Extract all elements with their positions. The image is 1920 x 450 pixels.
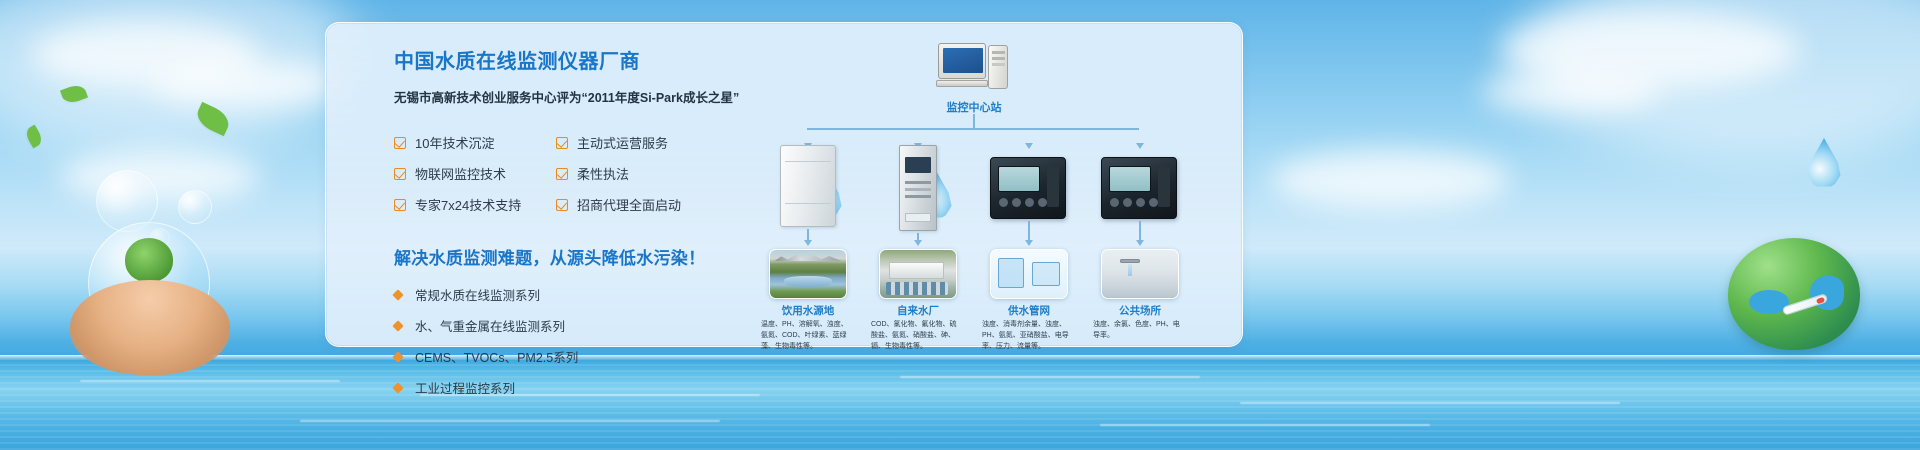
feature-item: 物联网监控技术 — [394, 164, 556, 183]
rack-label-plate — [905, 213, 931, 222]
feature-item: 招商代理全面启动 — [556, 195, 726, 214]
wave-line — [80, 380, 340, 382]
diamond-bullet-icon — [392, 320, 403, 331]
cloud-2 — [150, 60, 340, 108]
page-subtitle: 无锡市高新技术创业服务中心评为“2011年度Si-Park成长之星” — [394, 87, 734, 106]
monitor-icon — [938, 43, 986, 79]
feature-label: 物联网监控技术 — [415, 164, 506, 183]
rack-modules — [905, 181, 931, 184]
connector-stem — [973, 114, 975, 129]
device-panel-controller-1 — [990, 157, 1066, 219]
checkbox-icon — [556, 137, 568, 149]
scene-description: COD、氯化物、氟化物、硫酸盐、氨氮、硝酸盐、砷、镉、生物毒性等。 — [871, 320, 963, 353]
scene-description: 浊度、余氯、色度、PH、电导率。 — [1093, 320, 1185, 342]
scene-label: 供水管网 — [974, 303, 1084, 318]
section-heading: 解决水质监测难题，从源头降低水污染！ — [394, 244, 734, 269]
controller-body — [1101, 157, 1177, 219]
scene-card-image[interactable] — [990, 249, 1068, 299]
scene-card-image[interactable] — [879, 249, 957, 299]
controller-lcd — [998, 166, 1040, 192]
feature-checklist: 10年技术沉淀 主动式运营服务 物联网监控技术 柔性执法 专家7x24技术支持 … — [394, 133, 734, 214]
list-item: 水、气重金属在线监测系列 — [394, 316, 734, 335]
controller-keypad — [999, 198, 1047, 207]
list-item: CEMS、TVOCs、PM2.5系列 — [394, 347, 734, 366]
bubble-medium — [178, 190, 212, 224]
cloud-6 — [60, 150, 260, 204]
list-item-label: 工业过程监控系列 — [415, 378, 515, 397]
wave-line — [300, 420, 720, 422]
product-series-list: 常规水质在线监测系列 水、气重金属在线监测系列 CEMS、TVOCs、PM2.5… — [394, 285, 734, 397]
tap-water-photo — [1102, 250, 1178, 298]
rack-display — [905, 157, 931, 173]
cloud-4 — [1480, 70, 1660, 114]
controller-side-panel — [1158, 167, 1170, 207]
controller-lcd — [1109, 166, 1151, 192]
checkbox-icon — [556, 168, 568, 180]
feature-item: 10年技术沉淀 — [394, 133, 556, 152]
list-item-label: CEMS、TVOCs、PM2.5系列 — [415, 347, 578, 366]
monitor-screen — [943, 48, 983, 73]
scene-label: 饮用水源地 — [753, 303, 863, 318]
cabinet-body — [780, 145, 836, 227]
rack-body — [899, 145, 937, 231]
feature-label: 招商代理全面启动 — [577, 195, 681, 214]
list-item-label: 水、气重金属在线监测系列 — [415, 316, 565, 335]
device-panel-controller-2 — [1101, 157, 1177, 219]
wave-line — [900, 376, 1200, 378]
content-panel: 中国水质在线监测仪器厂商 无锡市高新技术创业服务中心评为“2011年度Si-Pa… — [325, 22, 1243, 347]
feature-label: 主动式运营服务 — [577, 133, 668, 152]
system-topology-diagram: 监控中心站 — [751, 31, 1221, 351]
connector-bus — [807, 128, 1139, 130]
feature-label: 柔性执法 — [577, 164, 629, 183]
feature-label: 专家7x24技术支持 — [415, 195, 521, 214]
wave-line — [1240, 402, 1620, 404]
diamond-bullet-icon — [392, 289, 403, 300]
green-earth-illustration — [1728, 238, 1860, 350]
scene-label: 公共场所 — [1085, 303, 1195, 318]
device-rack-analyzer — [899, 145, 937, 231]
diamond-bullet-icon — [392, 351, 403, 362]
pipe-network-diagram — [991, 250, 1067, 298]
controller-side-panel — [1047, 167, 1059, 207]
arrow-down-icon — [914, 240, 922, 246]
cloud-5 — [1270, 150, 1510, 210]
arrow-down-icon — [1025, 143, 1033, 149]
diamond-bullet-icon — [392, 382, 403, 393]
feature-label: 10年技术沉淀 — [415, 133, 494, 152]
scene-label: 自来水厂 — [863, 303, 973, 318]
water-band — [0, 358, 1920, 450]
left-content-column: 中国水质在线监测仪器厂商 无锡市高新技术创业服务中心评为“2011年度Si-Pa… — [394, 45, 734, 409]
cabinet-seam — [785, 161, 831, 162]
list-item: 常规水质在线监测系列 — [394, 285, 734, 304]
scene-description: 浊度、消毒剂余量、浊度、PH、氨氮、亚硝酸盐、电导率、压力、流量等。 — [982, 320, 1074, 353]
scene-card-image[interactable] — [1101, 249, 1179, 299]
tree-icon — [125, 238, 173, 282]
monitoring-center-computer-icon — [938, 43, 1010, 91]
feature-item: 主动式运营服务 — [556, 133, 726, 152]
checkbox-icon — [394, 168, 406, 180]
scene-description: 温度、PH、溶解氧、浊度、氨氮、COD、叶绿素、蓝绿藻、生物毒性等。 — [761, 320, 853, 353]
center-station-label: 监控中心站 — [901, 99, 1047, 115]
arrow-down-icon — [1025, 240, 1033, 246]
cabinet-seam — [785, 203, 831, 204]
device-cabinet-analyzer — [780, 145, 836, 227]
list-item-label: 常规水质在线监测系列 — [415, 285, 540, 304]
arrow-down-icon — [1136, 240, 1144, 246]
checkbox-icon — [394, 199, 406, 211]
checkbox-icon — [556, 199, 568, 211]
controller-keypad — [1110, 198, 1158, 207]
arrow-down-icon — [1136, 143, 1144, 149]
feature-item: 柔性执法 — [556, 164, 726, 183]
checkbox-icon — [394, 137, 406, 149]
arrow-down-icon — [804, 240, 812, 246]
feature-item: 专家7x24技术支持 — [394, 195, 556, 214]
list-item: 工业过程监控系列 — [394, 378, 734, 397]
scene-card-image[interactable] — [769, 249, 847, 299]
hands-illustration — [70, 280, 230, 375]
water-plant-photo — [880, 250, 956, 298]
page-title: 中国水质在线监测仪器厂商 — [394, 45, 734, 74]
controller-body — [990, 157, 1066, 219]
river-photo — [770, 250, 846, 298]
keyboard-icon — [936, 80, 988, 87]
wave-line — [1100, 424, 1430, 426]
pc-tower-icon — [988, 45, 1008, 89]
